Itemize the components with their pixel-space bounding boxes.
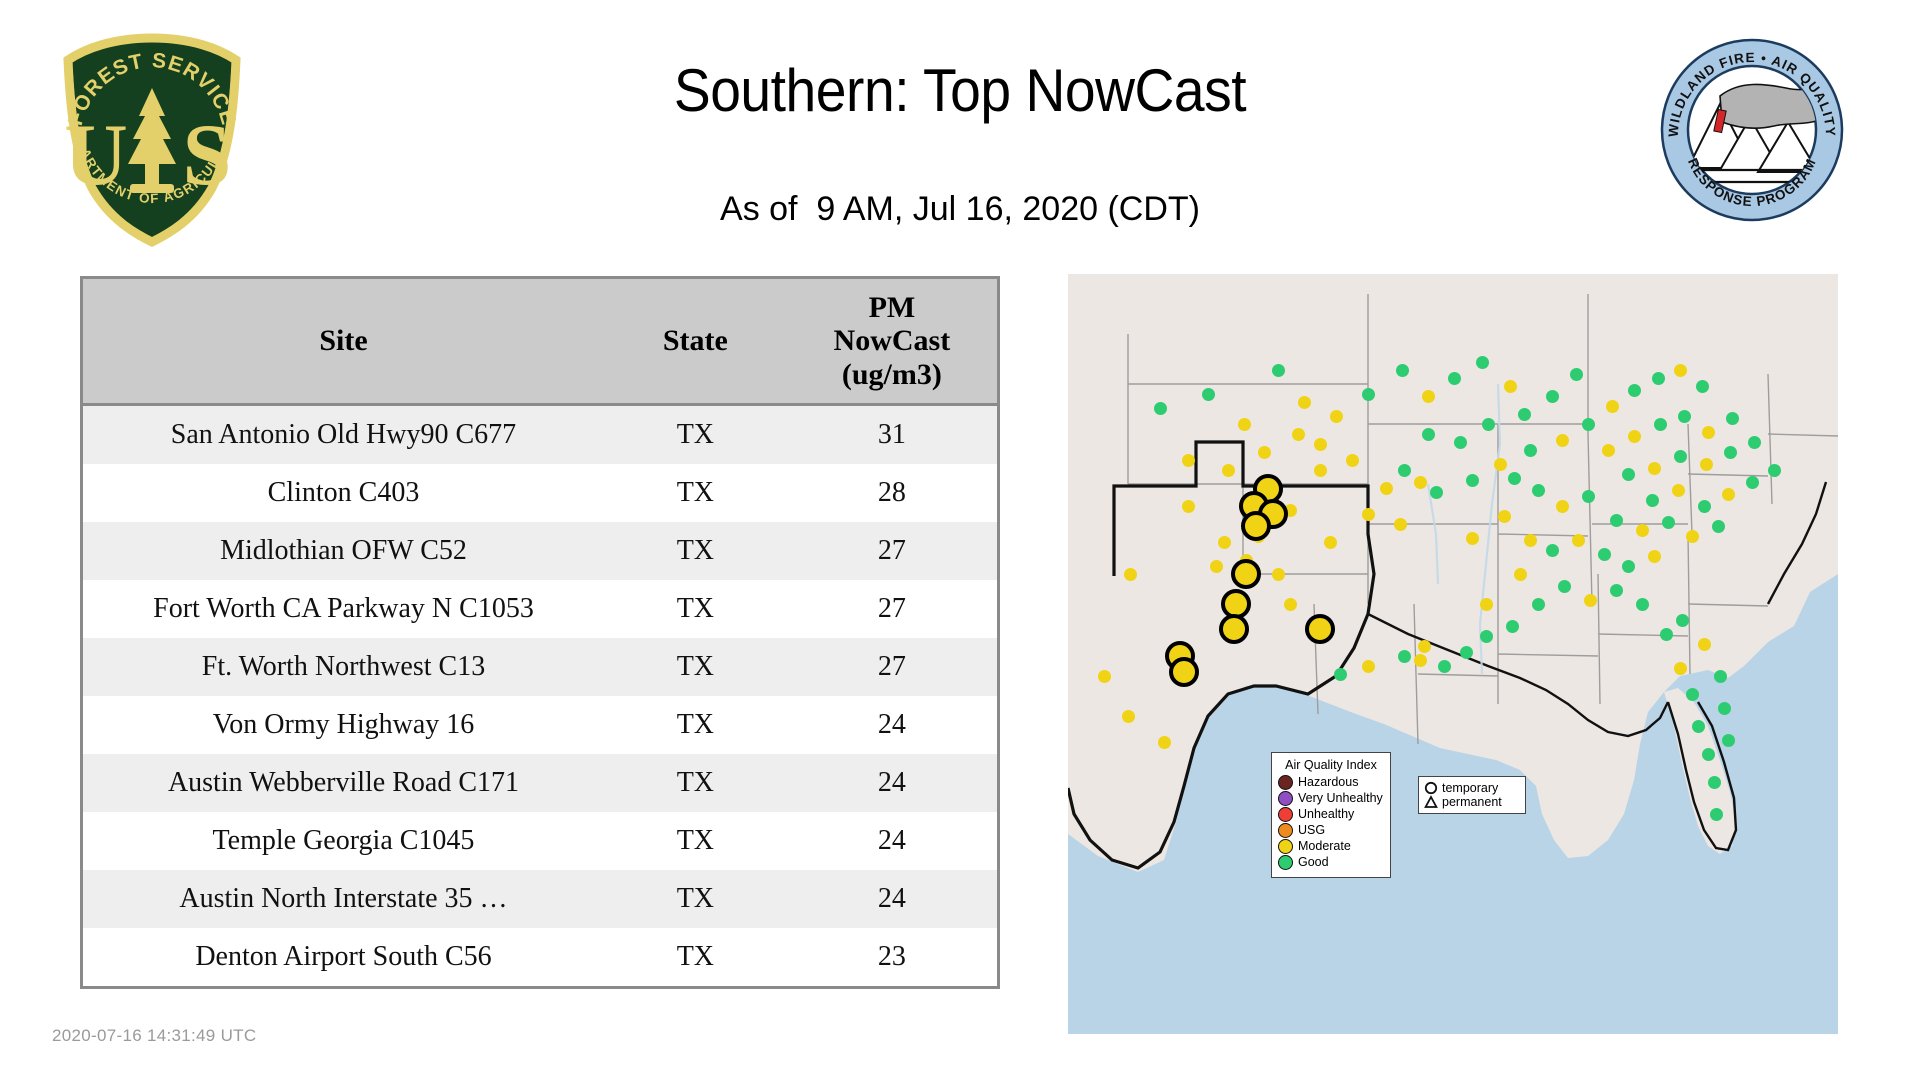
column-header-site: Site [83,279,604,405]
monitor-dot[interactable] [1202,388,1215,401]
monitor-dot[interactable] [1414,654,1427,667]
monitor-dot[interactable] [1674,450,1687,463]
site-cell: Von Ormy Highway 16 [83,696,604,754]
aqi-legend-label: Hazardous [1298,776,1358,790]
aqi-legend-item: Very Unhealthy [1278,791,1384,806]
state-cell: TX [604,464,787,522]
monitor-dot[interactable] [1314,464,1327,477]
monitor-dot[interactable] [1238,418,1251,431]
monitor-dot[interactable] [1722,488,1735,501]
monitor-dot[interactable] [1362,388,1375,401]
monitor-dot[interactable] [1258,446,1271,459]
monitor-dot[interactable] [1480,598,1493,611]
monitor-dot[interactable] [1466,474,1479,487]
legend-label-permanent: permanent [1442,795,1502,809]
monitor-dot[interactable] [1430,486,1443,499]
pm-header-line-3: (ug/m3) [791,358,993,392]
monitor-dot[interactable] [1532,484,1545,497]
monitor-dot[interactable] [1524,534,1537,547]
top-site-monitor-dot[interactable] [1241,511,1271,541]
wfaqrp-logo: WILDLAND FIRE • AIR QUALITY RESPONSE PRO… [1658,36,1846,224]
legend-row-temporary: temporary [1424,781,1520,795]
monitor-dot[interactable] [1476,356,1489,369]
monitor-dot[interactable] [1546,390,1559,403]
aqi-legend-title: Air Quality Index [1278,758,1384,772]
monitor-dot[interactable] [1558,580,1571,593]
pm-cell: 24 [787,870,997,928]
monitor-dot[interactable] [1398,464,1411,477]
monitor-dot[interactable] [1298,396,1311,409]
aqi-legend-item: Hazardous [1278,775,1384,790]
pm-cell: 31 [787,405,997,465]
legend-row-permanent: permanent [1424,795,1520,809]
pm-cell: 24 [787,754,997,812]
state-cell: TX [604,522,787,580]
table-row: Austin North Interstate 35 …TX24 [83,870,997,928]
monitor-dot[interactable] [1654,418,1667,431]
top-nowcast-table: Site State PM NowCast (ug/m3) San Antoni… [80,276,1000,989]
table-row: San Antonio Old Hwy90 C677TX31 [83,405,997,465]
monitor-dot[interactable] [1572,534,1585,547]
state-cell: TX [604,580,787,638]
monitor-dot[interactable] [1124,568,1137,581]
monitor-dot[interactable] [1718,702,1731,715]
top-site-monitor-dot[interactable] [1169,657,1199,687]
monitor-dot[interactable] [1414,476,1427,489]
svg-text:S: S [183,107,232,204]
aqi-legend-item: USG [1278,823,1384,838]
monitor-dot[interactable] [1660,628,1673,641]
monitor-dot[interactable] [1712,520,1725,533]
monitor-dot[interactable] [1768,464,1781,477]
monitor-dot[interactable] [1460,646,1473,659]
pm-header-line-2: NowCast [791,324,993,358]
monitor-dot[interactable] [1518,408,1531,421]
aqi-legend-item: Unhealthy [1278,807,1384,822]
monitor-dot[interactable] [1672,484,1685,497]
monitor-dot[interactable] [1514,568,1527,581]
table-row: Midlothian OFW C52TX27 [83,522,997,580]
monitor-dot[interactable] [1438,660,1451,673]
state-cell: TX [604,638,787,696]
monitor-dot[interactable] [1532,598,1545,611]
air-quality-map[interactable]: Air Quality Index HazardousVery Unhealth… [1068,274,1838,1034]
monitor-dot[interactable] [1324,536,1337,549]
aqi-legend-item: Good [1278,855,1384,870]
site-cell: Denton Airport South C56 [83,928,604,986]
monitor-dot[interactable] [1508,472,1521,485]
monitor-dot[interactable] [1582,490,1595,503]
monitor-dot[interactable] [1610,514,1623,527]
state-cell: TX [604,754,787,812]
top-site-monitor-dot[interactable] [1305,614,1335,644]
aqi-legend-label: Unhealthy [1298,808,1354,822]
aqi-color-swatch [1278,823,1293,838]
site-cell: Austin Webberville Road C171 [83,754,604,812]
aqi-legend-label: Moderate [1298,840,1351,854]
column-header-pm-nowcast: PM NowCast (ug/m3) [787,279,997,405]
monitor-dot[interactable] [1570,368,1583,381]
monitor-dot[interactable] [1636,598,1649,611]
monitor-dot[interactable] [1724,446,1737,459]
monitor-dot[interactable] [1524,444,1537,457]
table-row: Von Ormy Highway 16TX24 [83,696,997,754]
monitor-dot[interactable] [1606,400,1619,413]
pm-cell: 28 [787,464,997,522]
monitor-dot[interactable] [1700,458,1713,471]
monitor-dot[interactable] [1380,482,1393,495]
aqi-legend-label: USG [1298,824,1325,838]
pm-cell: 27 [787,580,997,638]
monitor-dot[interactable] [1480,630,1493,643]
monitor-dot[interactable] [1498,510,1511,523]
monitor-dot[interactable] [1646,494,1659,507]
monitor-dot[interactable] [1556,434,1569,447]
monitor-dot[interactable] [1746,476,1759,489]
table-row: Clinton C403TX28 [83,464,997,522]
monitor-dot[interactable] [1584,594,1597,607]
monitor-dot[interactable] [1714,670,1727,683]
aqi-legend: Air Quality Index HazardousVery Unhealth… [1271,752,1391,878]
monitor-dot[interactable] [1610,584,1623,597]
monitor-dot[interactable] [1686,530,1699,543]
monitor-dot[interactable] [1622,560,1635,573]
site-cell: San Antonio Old Hwy90 C677 [83,405,604,465]
monitor-dot[interactable] [1098,670,1111,683]
monitor-dot[interactable] [1708,776,1721,789]
pm-header-line-1: PM [791,291,993,325]
monitor-dot[interactable] [1466,532,1479,545]
column-header-state: State [604,279,787,405]
monitor-dot[interactable] [1628,430,1641,443]
monitor-dot[interactable] [1602,444,1615,457]
site-cell: Ft. Worth Northwest C13 [83,638,604,696]
monitor-dot[interactable] [1448,372,1461,385]
monitor-dot[interactable] [1292,428,1305,441]
pm-cell: 27 [787,522,997,580]
monitor-dot[interactable] [1454,436,1467,449]
monitor-dot[interactable] [1652,372,1665,385]
monitor-dot[interactable] [1122,710,1135,723]
monitor-dot[interactable] [1676,614,1689,627]
monitor-dot[interactable] [1726,412,1739,425]
monitor-dot[interactable] [1556,500,1569,513]
circle-marker-icon [1424,781,1438,795]
monitor-dot[interactable] [1722,734,1735,747]
monitor-dot[interactable] [1678,410,1691,423]
pm-cell: 23 [787,928,997,986]
state-cell: TX [604,696,787,754]
monitor-dot[interactable] [1330,410,1343,423]
monitor-dot[interactable] [1334,668,1347,681]
monitor-dot[interactable] [1394,518,1407,531]
monitor-dot[interactable] [1628,384,1641,397]
monitor-dot[interactable] [1158,736,1171,749]
aqi-color-swatch [1278,807,1293,822]
monitor-dot[interactable] [1662,516,1675,529]
monitor-dot[interactable] [1494,458,1507,471]
monitor-dot[interactable] [1396,364,1409,377]
monitor-type-legend: temporary permanent [1418,776,1526,814]
table-row: Ft. Worth Northwest C13TX27 [83,638,997,696]
triangle-marker-icon [1424,795,1438,809]
slide-root: FOREST SERVICE DEPARTMENT OF AGRICULTURE… [0,0,1920,1080]
monitor-dot[interactable] [1636,524,1649,537]
site-cell: Fort Worth CA Parkway N C1053 [83,580,604,638]
monitor-dot[interactable] [1748,436,1761,449]
monitor-dot[interactable] [1648,462,1661,475]
pm-cell: 27 [787,638,997,696]
state-cell: TX [604,928,787,986]
table-row: Austin Webberville Road C171TX24 [83,754,997,812]
monitor-dot[interactable] [1422,390,1435,403]
site-cell: Clinton C403 [83,464,604,522]
aqi-color-swatch [1278,855,1293,870]
aqi-legend-label: Good [1298,856,1329,870]
monitor-dot[interactable] [1272,568,1285,581]
monitor-dot[interactable] [1482,418,1495,431]
monitor-dot[interactable] [1154,402,1167,415]
monitor-dot[interactable] [1210,560,1223,573]
pm-cell: 24 [787,812,997,870]
page-subtitle: As of 9 AM, Jul 16, 2020 (CDT) [300,190,1620,229]
monitor-dot[interactable] [1696,380,1709,393]
monitor-dot[interactable] [1362,660,1375,673]
monitor-dot[interactable] [1362,508,1375,521]
table-header-row: Site State PM NowCast (ug/m3) [83,279,997,405]
aqi-color-swatch [1278,839,1293,854]
us-forest-service-shield-logo: FOREST SERVICE DEPARTMENT OF AGRICULTURE… [52,32,252,247]
monitor-dot[interactable] [1674,364,1687,377]
pm-cell: 24 [787,696,997,754]
monitor-dot[interactable] [1622,468,1635,481]
monitor-dot[interactable] [1686,688,1699,701]
monitor-dot[interactable] [1598,548,1611,561]
monitor-dot[interactable] [1698,500,1711,513]
aqi-legend-item: Moderate [1278,839,1384,854]
monitor-dot[interactable] [1222,464,1235,477]
aqi-color-swatch [1278,775,1293,790]
monitor-dot[interactable] [1648,550,1661,563]
top-site-monitor-dot[interactable] [1219,614,1249,644]
monitor-dot[interactable] [1418,640,1431,653]
monitor-dot[interactable] [1702,426,1715,439]
page-title: Southern: Top NowCast [353,56,1567,125]
site-cell: Temple Georgia C1045 [83,812,604,870]
state-cell: TX [604,405,787,465]
monitor-dot[interactable] [1698,638,1711,651]
state-cell: TX [604,812,787,870]
monitor-dot[interactable] [1702,748,1715,761]
monitor-dot[interactable] [1314,438,1327,451]
monitor-dot[interactable] [1218,536,1231,549]
monitor-dot[interactable] [1692,720,1705,733]
monitor-dot[interactable] [1582,418,1595,431]
monitor-dot[interactable] [1546,544,1559,557]
aqi-color-swatch [1278,791,1293,806]
monitor-dot[interactable] [1272,364,1285,377]
state-cell: TX [604,870,787,928]
monitor-dot[interactable] [1506,620,1519,633]
monitor-dot[interactable] [1182,500,1195,513]
aqi-legend-label: Very Unhealthy [1298,792,1383,806]
monitor-dot[interactable] [1674,662,1687,675]
monitor-dot[interactable] [1346,454,1359,467]
table-row: Fort Worth CA Parkway N C1053TX27 [83,580,997,638]
table-row: Denton Airport South C56TX23 [83,928,997,986]
generated-timestamp: 2020-07-16 14:31:49 UTC [52,1026,256,1046]
monitor-dot[interactable] [1398,650,1411,663]
site-cell: Midlothian OFW C52 [83,522,604,580]
top-site-monitor-dot[interactable] [1231,559,1261,589]
monitor-dot[interactable] [1504,380,1517,393]
table-row: Temple Georgia C1045TX24 [83,812,997,870]
site-cell: Austin North Interstate 35 … [83,870,604,928]
svg-text:U: U [64,107,128,204]
monitor-dot[interactable] [1284,598,1297,611]
monitor-dot[interactable] [1182,454,1195,467]
monitor-dot[interactable] [1710,808,1723,821]
monitor-dot[interactable] [1422,428,1435,441]
legend-label-temporary: temporary [1442,781,1498,795]
